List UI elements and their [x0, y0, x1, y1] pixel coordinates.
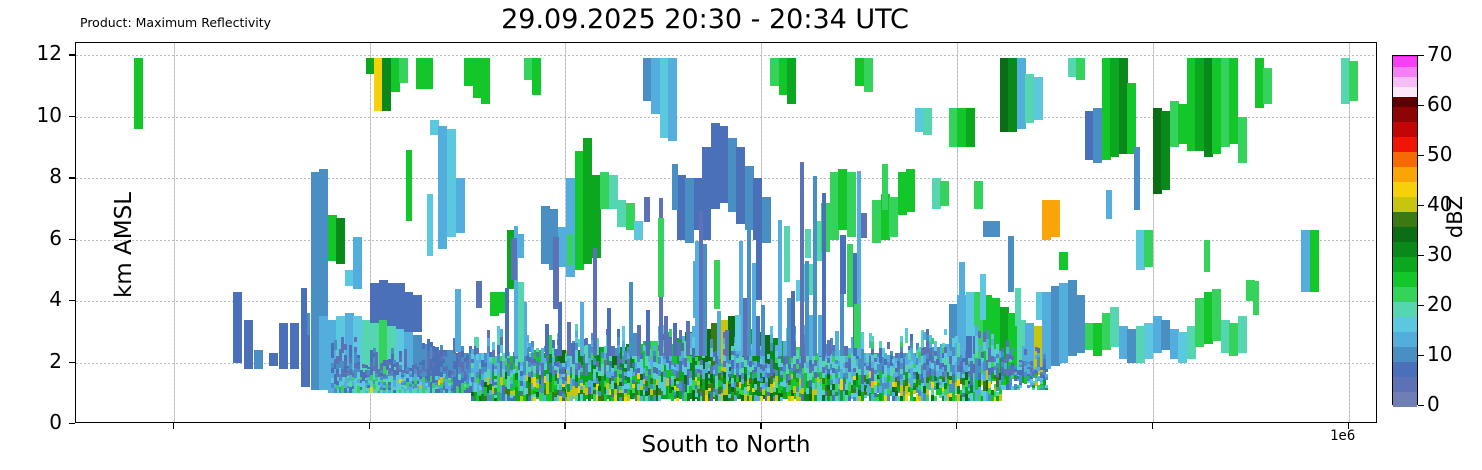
- reflectivity-cell: [1212, 58, 1221, 153]
- reflectivity-cell: [1110, 307, 1119, 347]
- reflectivity-cell: [871, 336, 874, 343]
- reflectivity-cell: [999, 394, 1002, 401]
- reflectivity-cell: [319, 316, 328, 390]
- reflectivity-cell: [487, 369, 490, 377]
- reflectivity-cell: [668, 58, 677, 141]
- y-axis-tick: [69, 239, 75, 240]
- reflectivity-cell: [357, 355, 360, 358]
- reflectivity-cell: [835, 331, 839, 356]
- y-axis-tick: [69, 116, 75, 117]
- reflectivity-cell: [762, 197, 771, 243]
- reflectivity-cell: [425, 383, 428, 386]
- reflectivity-cell: [756, 227, 762, 300]
- reflectivity-cell: [424, 58, 433, 89]
- reflectivity-cell: [805, 261, 809, 356]
- reflectivity-cell: [1019, 385, 1022, 388]
- reflectivity-cell: [451, 371, 454, 374]
- reflectivity-cell: [861, 349, 864, 358]
- reflectivity-cell: [854, 304, 860, 347]
- reflectivity-cell: [879, 356, 882, 364]
- reflectivity-cell: [944, 329, 947, 335]
- colorbar-segment: [1393, 151, 1417, 167]
- reflectivity-cell: [1045, 385, 1048, 388]
- reflectivity-cell: [1019, 383, 1022, 386]
- reflectivity-cell: [1024, 355, 1027, 361]
- reflectivity-cell: [553, 237, 559, 309]
- reflectivity-cell: [908, 355, 911, 360]
- reflectivity-cell: [761, 305, 765, 356]
- colorbar-segment: [1393, 166, 1417, 182]
- reflectivity-cell: [848, 353, 851, 358]
- colorbar-segment: [1393, 66, 1417, 77]
- colorbar-tick: [1418, 255, 1424, 256]
- reflectivity-cell: [370, 283, 379, 323]
- reflectivity-cell: [1043, 359, 1046, 364]
- reflectivity-cell: [375, 360, 378, 364]
- colorbar-segment: [1393, 196, 1417, 212]
- reflectivity-cell: [380, 366, 383, 369]
- reflectivity-cell: [699, 211, 703, 356]
- colorbar-segment: [1393, 316, 1417, 332]
- reflectivity-cell: [787, 298, 791, 357]
- reflectivity-cell: [1037, 353, 1040, 358]
- reflectivity-cell: [1238, 117, 1247, 163]
- reflectivity-cell: [676, 391, 679, 394]
- reflectivity-cell: [855, 58, 864, 86]
- reflectivity-cell: [406, 150, 412, 221]
- x-axis-tick: [564, 423, 565, 429]
- reflectivity-cell: [593, 248, 597, 356]
- reflectivity-cell: [1045, 369, 1048, 372]
- reflectivity-cell: [770, 326, 773, 334]
- y-axis-tick: [69, 362, 75, 363]
- reflectivity-cell: [404, 353, 407, 357]
- reflectivity-cell: [996, 363, 999, 368]
- colorbar-tick: [1418, 155, 1424, 156]
- reflectivity-cell: [432, 346, 435, 351]
- reflectivity-cell: [451, 374, 454, 377]
- reflectivity-cell: [357, 358, 360, 361]
- y-axis-tick-label: 8: [22, 164, 62, 188]
- reflectivity-cell: [840, 235, 846, 295]
- reflectivity-cell: [494, 372, 497, 375]
- reflectivity-cell: [1006, 340, 1009, 347]
- reflectivity-cell: [617, 200, 626, 228]
- reflectivity-cell: [1014, 366, 1017, 369]
- reflectivity-cell: [1024, 349, 1027, 355]
- reflectivity-cell: [887, 342, 890, 349]
- colorbar-segment: [1393, 331, 1417, 347]
- reflectivity-cell: [900, 336, 903, 341]
- reflectivity-cell: [510, 377, 513, 380]
- y-axis-tick: [69, 300, 75, 301]
- reflectivity-cell: [510, 373, 513, 376]
- reflectivity-cell: [532, 58, 541, 95]
- reflectivity-cell: [536, 348, 539, 352]
- reflectivity-cell: [334, 340, 337, 345]
- reflectivity-cell: [622, 334, 625, 341]
- reflectivity-cell: [1036, 292, 1042, 320]
- reflectivity-cell: [233, 292, 242, 363]
- reflectivity-cell: [929, 348, 932, 355]
- reflectivity-cell: [422, 360, 425, 366]
- reflectivity-cell: [770, 334, 773, 342]
- reflectivity-cell: [510, 384, 513, 387]
- reflectivity-cell: [736, 147, 745, 224]
- y-axis-tick-label: 12: [22, 41, 62, 65]
- reflectivity-cell: [942, 377, 945, 382]
- reflectivity-cell: [1045, 377, 1048, 380]
- reflectivity-cell: [923, 108, 932, 136]
- reflectivity-cell: [464, 58, 473, 86]
- reflectivity-cell: [440, 345, 443, 350]
- reflectivity-cell: [640, 359, 643, 364]
- reflectivity-cell: [848, 363, 851, 368]
- reflectivity-cell: [934, 396, 937, 401]
- y-axis-tick: [69, 423, 75, 424]
- reflectivity-cell: [1030, 365, 1033, 369]
- reflectivity-cell: [511, 238, 517, 280]
- reflectivity-cell: [848, 396, 851, 401]
- reflectivity-cell: [1008, 58, 1017, 132]
- reflectivity-cell: [765, 377, 768, 382]
- reflectivity-cell: [778, 220, 782, 356]
- reflectivity-cell: [676, 371, 679, 374]
- reflectivity-cell: [567, 234, 573, 264]
- reflectivity-cell: [996, 344, 999, 349]
- reflectivity-cell: [676, 374, 679, 377]
- reflectivity-cell: [598, 386, 601, 391]
- reflectivity-cell: [471, 377, 474, 382]
- colorbar-gradient: [1392, 55, 1418, 405]
- reflectivity-cell: [453, 354, 456, 362]
- reflectivity-cell: [991, 221, 1000, 236]
- reflectivity-cell: [1310, 230, 1319, 291]
- reflectivity-cell: [500, 329, 503, 337]
- reflectivity-cell: [1030, 361, 1033, 365]
- x-axis-tick: [1152, 423, 1153, 429]
- reflectivity-cell: [279, 323, 288, 369]
- reflectivity-cell: [743, 298, 747, 356]
- reflectivity-cell: [510, 380, 513, 383]
- reflectivity-cell: [1076, 295, 1085, 353]
- reflectivity-cell: [672, 164, 678, 210]
- reflectivity-cell: [382, 58, 391, 110]
- reflectivity-cell: [575, 331, 578, 337]
- reflectivity-cell: [422, 343, 425, 349]
- reflectivity-cell: [399, 365, 402, 368]
- reflectivity-cell: [611, 346, 615, 356]
- reflectivity-cell: [760, 378, 763, 383]
- reflectivity-cell: [637, 325, 641, 356]
- reflectivity-cell: [1009, 380, 1012, 384]
- reflectivity-cell: [254, 350, 263, 368]
- reflectivity-cell: [1229, 323, 1238, 357]
- reflectivity-cell: [476, 281, 482, 308]
- reflectivity-cell: [476, 343, 479, 349]
- reflectivity-cell: [780, 397, 783, 401]
- reflectivity-cell: [554, 349, 558, 357]
- reflectivity-cell: [344, 344, 347, 349]
- reflectivity-cell: [399, 355, 402, 358]
- reflectivity-cell: [487, 338, 490, 346]
- reflectivity-cell: [905, 328, 908, 335]
- reflectivity-cell: [1238, 316, 1247, 353]
- reflectivity-cell: [714, 260, 720, 309]
- reflectivity-cell: [1045, 374, 1048, 377]
- reflectivity-cell: [1253, 281, 1259, 315]
- reflectivity-cell: [900, 352, 903, 357]
- reflectivity-cell: [689, 371, 692, 379]
- reflectivity-cell: [500, 337, 503, 345]
- reflectivity-cell: [531, 341, 534, 347]
- reflectivity-cell: [710, 339, 713, 348]
- reflectivity-cell: [981, 352, 984, 357]
- reflectivity-cell: [669, 329, 672, 337]
- reflectivity-cell: [827, 358, 830, 363]
- reflectivity-cell: [717, 311, 721, 356]
- reflectivity-cell: [1045, 388, 1048, 391]
- reflectivity-cell: [1059, 283, 1068, 363]
- colorbar-segment: [1393, 56, 1417, 57]
- reflectivity-cell: [404, 349, 407, 353]
- reflectivity-cell: [791, 291, 795, 356]
- reflectivity-cell: [723, 384, 726, 390]
- reflectivity-cell: [487, 330, 490, 338]
- reflectivity-cell: [367, 383, 370, 386]
- reflectivity-cell: [818, 315, 822, 357]
- y-axis-title: km AMSL: [111, 115, 137, 375]
- reflectivity-cell: [432, 357, 435, 362]
- reflectivity-cell: [871, 342, 874, 349]
- reflectivity-cell: [978, 331, 981, 338]
- reflectivity-cell: [481, 353, 484, 360]
- reflectivity-cell: [687, 393, 690, 401]
- figure-title: 29.09.2025 20:30 - 20:34 UTC: [0, 4, 1410, 35]
- reflectivity-cell: [741, 368, 744, 373]
- reflectivity-cell: [447, 129, 456, 237]
- reflectivity-cell: [375, 356, 378, 360]
- reflectivity-cell: [1001, 348, 1004, 353]
- y-axis-tick-label: 10: [22, 103, 62, 127]
- reflectivity-cell: [685, 178, 694, 243]
- reflectivity-cell: [910, 348, 913, 355]
- colorbar-segment: [1393, 271, 1417, 287]
- reflectivity-cell: [991, 334, 994, 340]
- reflectivity-cell: [622, 326, 625, 333]
- reflectivity-cell: [996, 358, 999, 363]
- reflectivity-cell: [438, 126, 447, 249]
- colorbar-segment: [1393, 301, 1417, 317]
- reflectivity-cell: [882, 164, 888, 210]
- reflectivity-cell: [1015, 288, 1021, 326]
- reflectivity-cell: [861, 332, 864, 341]
- reflectivity-cell: [456, 386, 459, 393]
- reflectivity-cell: [650, 384, 653, 390]
- reflectivity-cell: [593, 372, 596, 376]
- reflectivity-cell: [427, 387, 430, 393]
- reflectivity-cell: [644, 197, 650, 222]
- reflectivity-cell: [404, 357, 407, 361]
- reflectivity-cell: [765, 382, 768, 387]
- reflectivity-cell: [533, 397, 536, 400]
- reflectivity-cell: [1195, 298, 1204, 347]
- reflectivity-cell: [1011, 356, 1014, 360]
- colorbar-tick-label: 20: [1427, 292, 1452, 316]
- reflectivity-cell: [809, 315, 813, 356]
- colorbar-segment: [1393, 106, 1417, 122]
- reflectivity-cell: [658, 218, 664, 297]
- reflectivity-cell: [1001, 352, 1004, 357]
- reflectivity-cell: [622, 341, 625, 348]
- colorbar-tick: [1418, 205, 1424, 206]
- reflectivity-cell: [978, 345, 981, 352]
- reflectivity-cell: [1110, 58, 1119, 156]
- reflectivity-cell: [673, 323, 677, 357]
- colorbar-segment: [1393, 361, 1417, 377]
- reflectivity-cell: [492, 350, 495, 357]
- reflectivity-cell: [1030, 357, 1033, 361]
- reflectivity-cell: [671, 397, 674, 401]
- reflectivity-cell: [1008, 236, 1014, 292]
- reflectivity-cell: [780, 393, 783, 397]
- reflectivity-cell: [500, 345, 503, 353]
- reflectivity-cell: [427, 194, 433, 256]
- reflectivity-cell: [991, 339, 994, 345]
- reflectivity-cell: [531, 353, 534, 359]
- reflectivity-cell: [471, 368, 474, 373]
- reflectivity-cell: [677, 342, 681, 357]
- reflectivity-cell: [580, 365, 583, 369]
- reflectivity-cell: [900, 342, 903, 347]
- reflectivity-cell: [1263, 68, 1272, 105]
- reflectivity-cell: [827, 385, 830, 390]
- reflectivity-cell: [357, 365, 360, 368]
- reflectivity-cell: [957, 108, 966, 148]
- reflectivity-cell: [365, 391, 368, 394]
- reflectivity-cell: [813, 176, 817, 356]
- x-axis-offset-text: 1e6: [1330, 428, 1355, 444]
- reflectivity-cell: [895, 353, 898, 358]
- reflectivity-cell: [456, 178, 465, 233]
- reflectivity-cell: [471, 373, 474, 378]
- reflectivity-cell: [448, 391, 451, 394]
- reflectivity-cell: [756, 316, 760, 356]
- x-axis-tick: [956, 423, 957, 429]
- reflectivity-cell: [435, 389, 438, 391]
- reflectivity-cell: [770, 58, 779, 86]
- reflectivity-cell: [500, 377, 503, 385]
- colorbar: [1392, 55, 1418, 405]
- colorbar-tick-label: 10: [1427, 342, 1452, 366]
- reflectivity-cell: [980, 274, 986, 319]
- reflectivity-cell: [1025, 74, 1034, 123]
- reflectivity-cell: [619, 367, 622, 371]
- reflectivity-cell: [290, 323, 299, 369]
- reflectivity-cell: [947, 364, 950, 371]
- reflectivity-cell: [791, 396, 794, 401]
- reflectivity-cell: [357, 362, 360, 365]
- reflectivity-cell: [1144, 323, 1153, 360]
- colorbar-segment: [1393, 256, 1417, 272]
- colorbar-segment: [1393, 376, 1417, 392]
- colorbar-title: dBZ: [1443, 157, 1467, 277]
- reflectivity-cell: [1017, 388, 1020, 390]
- reflectivity-cell: [906, 169, 915, 212]
- reflectivity-cell: [633, 333, 637, 356]
- reflectivity-cell: [648, 369, 651, 375]
- colorbar-tick-label: 0: [1427, 392, 1440, 416]
- reflectivity-cell: [844, 346, 848, 356]
- reflectivity-cell: [986, 329, 989, 339]
- x-axis-tick: [369, 423, 370, 429]
- reflectivity-cell: [401, 375, 404, 377]
- reflectivity-cell: [1106, 190, 1112, 219]
- reflectivity-cell: [1349, 61, 1358, 101]
- reflectivity-cell: [600, 172, 609, 209]
- reflectivity-cell: [653, 356, 656, 362]
- reflectivity-cell: [336, 369, 339, 373]
- reflectivity-cell: [445, 361, 448, 366]
- reflectivity-cell: [848, 358, 851, 363]
- y-axis-tick: [69, 177, 75, 178]
- colorbar-tick: [1418, 55, 1424, 56]
- reflectivity-cell: [708, 384, 711, 387]
- x-axis-tick: [760, 423, 761, 429]
- reflectivity-cell: [344, 355, 347, 360]
- colorbar-segment: [1393, 226, 1417, 242]
- reflectivity-cell: [580, 372, 583, 376]
- reflectivity-cell: [1037, 357, 1040, 362]
- reflectivity-cell: [1178, 332, 1187, 363]
- reflectivity-cell: [575, 324, 578, 330]
- reflectivity-cell: [838, 169, 847, 230]
- reflectivity-cell: [580, 302, 584, 356]
- reflectivity-cell: [934, 346, 937, 351]
- reflectivity-cell: [686, 321, 690, 357]
- reflectivity-cell: [905, 335, 908, 342]
- reflectivity-cell: [910, 341, 913, 348]
- reflectivity-cell: [1161, 320, 1170, 351]
- reflectivity-cell: [787, 58, 796, 104]
- reflectivity-cell: [545, 324, 549, 356]
- reflectivity-cell: [464, 374, 467, 377]
- reflectivity-cell: [653, 345, 656, 351]
- colorbar-tick: [1418, 355, 1424, 356]
- colorbar-segment: [1393, 286, 1417, 302]
- reflectivity-cell: [931, 388, 934, 394]
- reflectivity-cell: [822, 193, 826, 356]
- reflectivity-cell: [1011, 348, 1014, 352]
- reflectivity-cell: [664, 316, 668, 357]
- colorbar-segment: [1393, 86, 1417, 97]
- reflectivity-cell: [847, 244, 853, 307]
- reflectivity-cell: [349, 357, 352, 363]
- colorbar-segment: [1393, 241, 1417, 257]
- reflectivity-cell: [466, 355, 469, 360]
- reflectivity-cell: [1009, 352, 1012, 356]
- reflectivity-cell: [693, 261, 699, 318]
- reflectivity-cell: [588, 365, 591, 372]
- colorbar-segment: [1393, 181, 1417, 197]
- reflectivity-cell: [974, 181, 983, 209]
- reflectivity-cell: [668, 339, 672, 356]
- reflectivity-cell: [375, 364, 378, 368]
- reflectivity-cell: [627, 395, 630, 401]
- reflectivity-cell: [926, 395, 929, 401]
- reflectivity-cell: [378, 380, 381, 383]
- reflectivity-cell: [1034, 77, 1043, 120]
